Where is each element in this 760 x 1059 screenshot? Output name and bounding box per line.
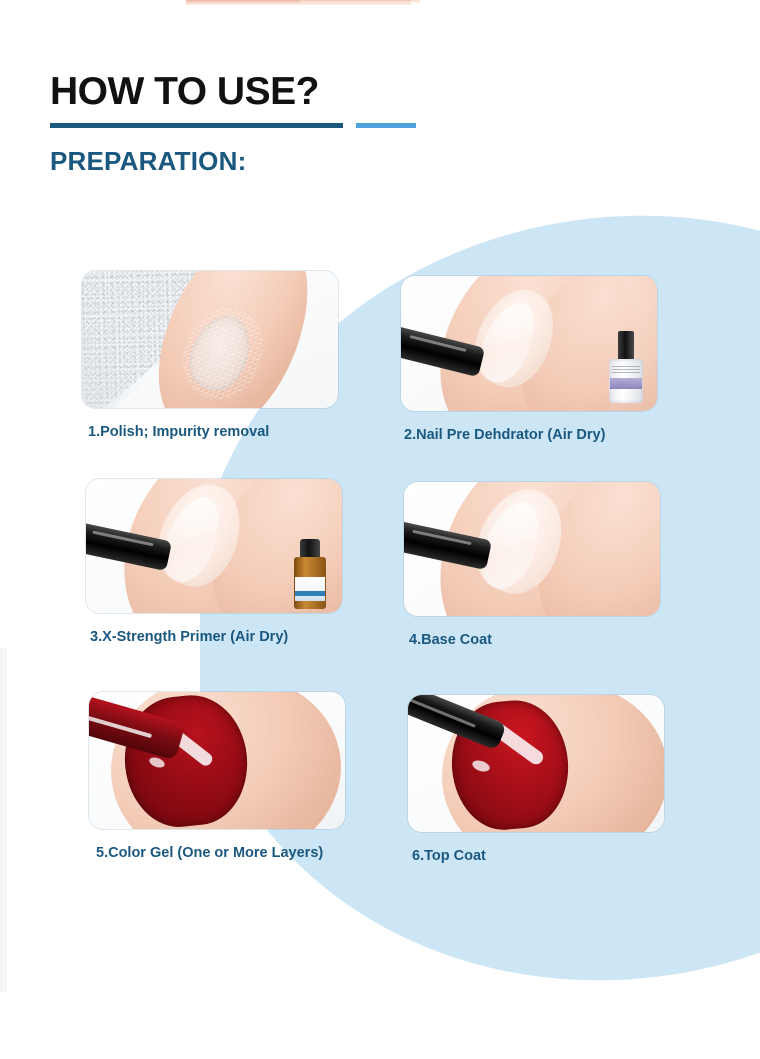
bottle-text	[612, 366, 640, 373]
bottle-label-stripe	[295, 591, 325, 596]
bottle-label	[610, 378, 642, 389]
step-3-image	[86, 479, 342, 613]
step-1-caption: 1.Polish; Impurity removal	[88, 424, 338, 440]
step-5-caption: 5.Color Gel (One or More Layers)	[96, 845, 345, 861]
title-underline-group	[50, 123, 710, 133]
step-item-4: 4.Base Coat	[404, 482, 660, 648]
header: HOW TO USE? PREPARATION:	[50, 72, 710, 177]
step-item-2: 2.Nail Pre Dehdrator (Air Dry)	[401, 276, 657, 443]
step-4-image	[404, 482, 660, 616]
step-6-image	[408, 695, 664, 832]
title-underline-dark	[50, 123, 343, 128]
primer-bottle	[294, 539, 326, 609]
step-item-5: 5.Color Gel (One or More Layers)	[89, 692, 345, 861]
left-edge-divider	[0, 648, 8, 992]
step-item-6: 6.Top Coat	[408, 695, 664, 864]
step-item-1: 1.Polish; Impurity removal	[82, 271, 338, 440]
step-3-caption: 3.X-Strength Primer (Air Dry)	[90, 629, 342, 645]
step-5-image	[89, 692, 345, 829]
bottle-label	[295, 577, 325, 601]
step-4-caption: 4.Base Coat	[409, 632, 660, 648]
step-2-caption: 2.Nail Pre Dehdrator (Air Dry)	[404, 427, 657, 443]
page-title: HOW TO USE?	[50, 72, 710, 113]
step-6-caption: 6.Top Coat	[412, 848, 664, 864]
title-underline-light	[356, 123, 416, 128]
section-subtitle: PREPARATION:	[50, 146, 710, 177]
bottle-cap	[300, 539, 320, 559]
step-2-image	[401, 276, 657, 411]
step-1-image	[82, 271, 338, 408]
step-item-3: 3.X-Strength Primer (Air Dry)	[86, 479, 342, 645]
dehydrator-bottle	[609, 331, 643, 403]
top-image-bleed-sliver-inner	[300, 0, 420, 3]
